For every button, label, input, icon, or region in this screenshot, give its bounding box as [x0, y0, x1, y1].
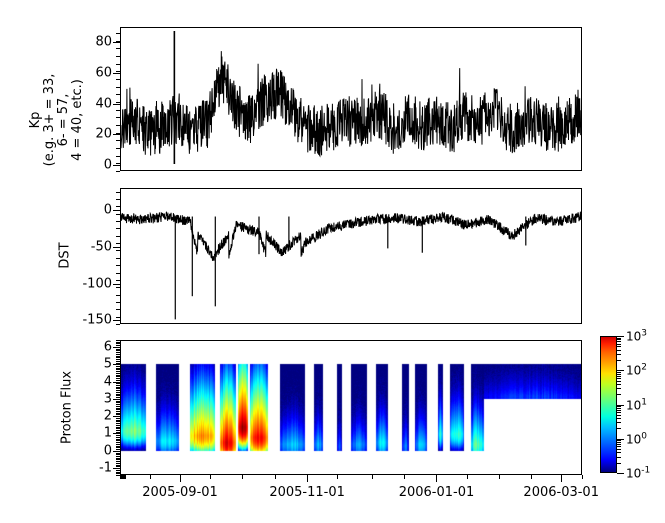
y-minor-tick — [116, 397, 120, 398]
y-minor-tick — [116, 375, 120, 376]
y-tick-label: 4 — [68, 374, 112, 389]
y-minor-tick — [116, 102, 120, 103]
y-minor-tick — [116, 371, 120, 372]
x-minor-tick — [210, 475, 211, 479]
y-minor-tick — [116, 432, 120, 433]
x-major-tick — [307, 475, 308, 482]
y-minor-tick — [116, 48, 120, 49]
y-minor-tick — [116, 125, 120, 126]
colorbar-minor-tick — [617, 372, 621, 373]
y-minor-tick — [116, 243, 120, 244]
y-minor-tick — [116, 406, 120, 407]
colorbar-minor-tick — [617, 338, 621, 339]
y-tick-label: 0 — [68, 443, 112, 458]
colorbar-minor-tick — [617, 446, 621, 447]
y-minor-tick — [116, 470, 120, 471]
y-minor-tick — [116, 357, 120, 358]
dst-trace — [121, 189, 581, 323]
y-minor-tick — [116, 228, 120, 229]
y-major-tick — [113, 210, 120, 211]
y-minor-tick — [116, 192, 120, 193]
colorbar-minor-tick — [617, 440, 621, 441]
colorbar-minor-tick — [617, 384, 621, 385]
y-minor-tick — [116, 418, 120, 419]
y-minor-tick — [116, 454, 120, 455]
colorbar-minor-tick — [617, 374, 621, 375]
y-minor-tick — [116, 363, 120, 364]
y-tick-label: -50 — [68, 239, 112, 254]
y-tick-label: 2 — [68, 409, 112, 424]
y-minor-tick — [116, 33, 120, 34]
y-tick-label: 0 — [68, 157, 112, 172]
x-minor-tick — [499, 475, 500, 479]
colorbar-minor-tick — [617, 360, 621, 361]
kp-panel — [120, 27, 582, 171]
colorbar-minor-tick — [617, 406, 621, 407]
y-minor-tick — [116, 236, 120, 237]
y-minor-tick — [116, 425, 120, 426]
y-minor-tick — [116, 428, 120, 429]
x-minor-tick — [150, 475, 151, 479]
y-minor-tick — [116, 345, 120, 346]
y-minor-tick — [116, 392, 120, 393]
colorbar-minor-tick — [617, 412, 621, 413]
x-major-tick — [436, 475, 437, 482]
y-minor-tick — [116, 466, 120, 467]
y-major-tick — [113, 320, 120, 321]
y-minor-tick — [116, 378, 120, 379]
y-tick-label: 5 — [68, 357, 112, 372]
y-minor-tick — [116, 133, 120, 134]
y-minor-tick — [116, 373, 120, 374]
y-minor-tick — [116, 458, 120, 459]
y-minor-tick — [116, 461, 120, 462]
y-minor-tick — [116, 447, 120, 448]
y-minor-tick — [116, 221, 120, 222]
y-minor-tick — [116, 408, 120, 409]
colorbar-minor-tick — [617, 388, 621, 389]
y-minor-tick — [116, 456, 120, 457]
y-minor-tick — [116, 395, 120, 396]
y-minor-tick — [116, 427, 120, 428]
y-minor-tick — [116, 465, 120, 466]
colorbar-tick-label: 100 — [626, 431, 647, 446]
dst-panel — [120, 188, 582, 324]
colorbar-minor-tick — [617, 415, 621, 416]
y-tick-label: -150 — [68, 313, 112, 328]
y-minor-tick — [116, 199, 120, 200]
y-major-tick — [113, 247, 120, 248]
colorbar-minor-tick — [617, 350, 621, 351]
y-minor-tick — [116, 349, 120, 350]
y-minor-tick — [116, 171, 120, 172]
colorbar-minor-tick — [617, 381, 621, 382]
x-tick-label: 2006-01-01 — [376, 485, 496, 500]
colorbar-minor-tick — [617, 428, 621, 429]
colorbar-minor-tick — [617, 394, 621, 395]
y-minor-tick — [116, 317, 120, 318]
y-minor-tick — [116, 440, 120, 441]
y-tick-label: 20 — [68, 127, 112, 142]
spectrogram-image — [121, 341, 581, 474]
y-minor-tick — [116, 383, 120, 384]
y-minor-tick — [116, 380, 120, 381]
colorbar-tick-label: 10-1 — [626, 466, 650, 481]
y-tick-label: -1 — [68, 461, 112, 476]
y-tick-label: 1 — [68, 426, 112, 441]
y-minor-tick — [116, 79, 120, 80]
y-minor-tick — [116, 463, 120, 464]
colorbar-minor-tick — [617, 418, 621, 419]
colorbar-minor-tick — [617, 452, 621, 453]
y-minor-tick — [116, 449, 120, 450]
x-tick-label: 2005-09-01 — [120, 485, 240, 500]
x-minor-tick — [467, 475, 468, 479]
y-minor-tick — [116, 117, 120, 118]
colorbar-minor-tick — [617, 449, 621, 450]
colorbar-tick-label: 103 — [626, 329, 647, 344]
y-minor-tick — [116, 280, 120, 281]
y-major-tick — [113, 104, 120, 105]
colorbar-minor-tick — [617, 354, 621, 355]
colorbar-minor-tick — [617, 422, 621, 423]
y-minor-tick — [116, 423, 120, 424]
colorbar-minor-tick — [617, 339, 621, 340]
y-minor-tick — [116, 64, 120, 65]
y-minor-tick — [116, 385, 120, 386]
y-minor-tick — [116, 453, 120, 454]
proton-flux-panel — [120, 340, 582, 475]
y-minor-tick — [116, 87, 120, 88]
y-minor-tick — [116, 258, 120, 259]
y-minor-tick — [116, 472, 120, 473]
y-minor-tick — [116, 366, 120, 367]
x-minor-tick — [275, 475, 276, 479]
colorbar-tick-label: 102 — [626, 363, 647, 378]
x-minor-tick — [404, 475, 405, 479]
y-minor-tick — [116, 287, 120, 288]
x-minor-tick — [582, 475, 583, 479]
y-minor-tick — [116, 340, 120, 341]
x-minor-tick — [531, 475, 532, 479]
colorbar-minor-tick — [617, 344, 621, 345]
y-minor-tick — [116, 94, 120, 95]
x-major-tick — [180, 475, 181, 482]
kp-trace — [121, 28, 581, 170]
x-minor-tick — [372, 475, 373, 479]
y-minor-tick — [116, 402, 120, 403]
y-tick-label: 0 — [68, 203, 112, 218]
y-minor-tick — [116, 394, 120, 395]
y-minor-tick — [116, 444, 120, 445]
y-minor-tick — [116, 309, 120, 310]
y-minor-tick — [116, 359, 120, 360]
y-major-tick — [113, 73, 120, 74]
x-major-tick — [561, 475, 562, 482]
y-minor-tick — [116, 206, 120, 207]
colorbar-minor-tick — [617, 408, 621, 409]
y-minor-tick — [116, 250, 120, 251]
y-minor-tick — [116, 140, 120, 141]
y-minor-tick — [116, 148, 120, 149]
y-minor-tick — [116, 361, 120, 362]
y-minor-tick — [116, 342, 120, 343]
y-minor-tick — [116, 388, 120, 389]
kp-data-trace — [121, 51, 581, 156]
y-minor-tick — [116, 302, 120, 303]
y-minor-tick — [116, 435, 120, 436]
y-minor-tick — [116, 420, 120, 421]
y-tick-label: 60 — [68, 65, 112, 80]
y-minor-tick — [116, 356, 120, 357]
y-minor-tick — [116, 56, 120, 57]
y-minor-tick — [116, 273, 120, 274]
y-tick-label: 3 — [68, 391, 112, 406]
colorbar-minor-tick — [617, 444, 621, 445]
colorbar-major-tick — [617, 473, 624, 474]
colorbar-minor-tick — [617, 341, 621, 342]
colorbar-minor-tick — [617, 457, 621, 458]
y-minor-tick — [116, 214, 120, 215]
y-minor-tick — [116, 368, 120, 369]
y-major-tick — [113, 134, 120, 135]
y-minor-tick — [116, 324, 120, 325]
x-minor-tick — [337, 475, 338, 479]
dst-data-trace — [121, 212, 581, 261]
y-minor-tick — [116, 401, 120, 402]
x-edge-minor-tick — [125, 475, 126, 479]
y-minor-tick — [116, 414, 120, 415]
y-minor-tick — [116, 350, 120, 351]
y-minor-tick — [116, 404, 120, 405]
colorbar — [600, 336, 617, 473]
y-minor-tick — [116, 411, 120, 412]
y-major-tick — [113, 284, 120, 285]
y-minor-tick — [116, 110, 120, 111]
x-tick-label: 2005-11-01 — [247, 485, 367, 500]
y-tick-label: 40 — [68, 96, 112, 111]
colorbar-minor-tick — [617, 376, 621, 377]
colorbar-minor-tick — [617, 442, 621, 443]
y-tick-label: 6 — [68, 339, 112, 354]
y-minor-tick — [116, 430, 120, 431]
y-minor-tick — [116, 442, 120, 443]
colorbar-minor-tick — [617, 346, 621, 347]
colorbar-tick-label: 101 — [626, 397, 647, 412]
y-minor-tick — [116, 421, 120, 422]
y-minor-tick — [116, 163, 120, 164]
y-minor-tick — [116, 437, 120, 438]
y-tick-label: -100 — [68, 276, 112, 291]
x-minor-tick — [242, 475, 243, 479]
colorbar-minor-tick — [617, 410, 621, 411]
y-minor-tick — [116, 387, 120, 388]
kp-ylabel-line-2: (e.g. 3+ = 33, — [43, 45, 57, 195]
y-tick-label: 80 — [68, 35, 112, 50]
y-minor-tick — [116, 352, 120, 353]
y-minor-tick — [116, 343, 120, 344]
y-minor-tick — [116, 446, 120, 447]
y-minor-tick — [116, 390, 120, 391]
y-minor-tick — [116, 439, 120, 440]
y-minor-tick — [116, 71, 120, 72]
y-minor-tick — [116, 409, 120, 410]
y-major-tick — [113, 42, 120, 43]
kp-ylabel-line-1: Kp — [29, 45, 43, 195]
colorbar-minor-tick — [617, 463, 621, 464]
x-tick-label: 2006-03-01 — [501, 485, 621, 500]
y-minor-tick — [116, 295, 120, 296]
colorbar-minor-tick — [617, 378, 621, 379]
y-major-tick — [113, 165, 120, 166]
y-minor-tick — [116, 376, 120, 377]
y-minor-tick — [116, 156, 120, 157]
y-minor-tick — [116, 41, 120, 42]
y-minor-tick — [116, 369, 120, 370]
y-minor-tick — [116, 265, 120, 266]
y-minor-tick — [116, 459, 120, 460]
y-minor-tick — [116, 413, 120, 414]
y-minor-tick — [116, 354, 120, 355]
